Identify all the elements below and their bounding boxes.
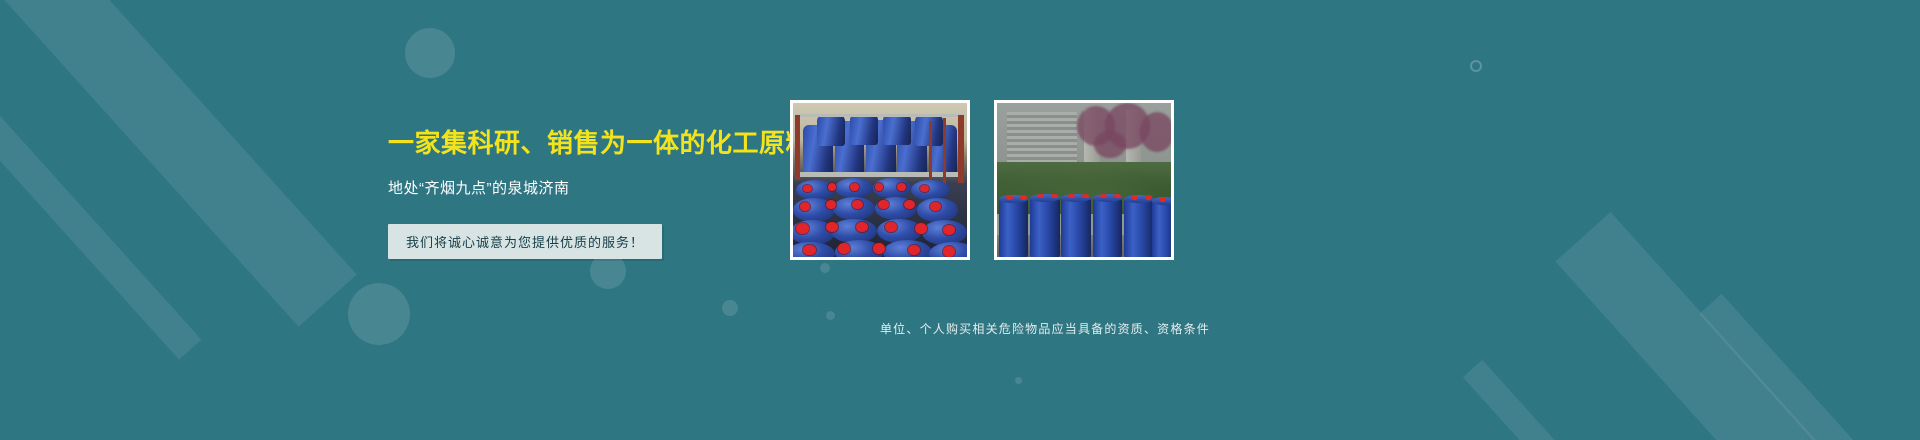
circle-decoration bbox=[826, 311, 835, 320]
banner-headline: 一家集科研、销售为一体的化工原料公司 bbox=[388, 128, 808, 159]
photo-card-blue-chemical-drums-in-red-steel-cage[interactable] bbox=[790, 100, 970, 260]
circle-decoration bbox=[722, 300, 738, 316]
drum-cage-photo-icon bbox=[793, 103, 967, 257]
hero-banner: 一家集科研、销售为一体的化工原料公司 地处“齐烟九点”的泉城济南 我们将诚心诚意… bbox=[0, 0, 1920, 440]
service-promise-button[interactable]: 我们将诚心诚意为您提供优质的服务！ bbox=[388, 224, 662, 259]
circle-decoration bbox=[1015, 377, 1022, 384]
photo-gallery bbox=[790, 100, 1174, 260]
circle-decoration bbox=[405, 28, 455, 78]
photo-card-blue-barrels-outdoors-by-shrubs[interactable] bbox=[994, 100, 1174, 260]
circle-ring-decoration bbox=[1470, 60, 1482, 72]
circle-decoration bbox=[348, 283, 410, 345]
diagonal-stripe-decoration bbox=[1556, 212, 1920, 440]
banner-subline: 地处“齐烟九点”的泉城济南 bbox=[388, 177, 808, 198]
diagonal-stripe-decoration bbox=[1463, 360, 1683, 440]
diagonal-stripe-decoration bbox=[0, 0, 201, 360]
circle-decoration bbox=[820, 263, 830, 273]
diagonal-stripe-decoration bbox=[1699, 294, 1920, 440]
banner-copy: 一家集科研、销售为一体的化工原料公司 地处“齐烟九点”的泉城济南 我们将诚心诚意… bbox=[388, 128, 808, 259]
outdoor-barrels-photo-icon bbox=[997, 103, 1171, 257]
diagonal-stripe-decoration bbox=[0, 0, 357, 327]
compliance-caption: 单位、个人购买相关危险物品应当具备的资质、资格条件 bbox=[835, 320, 1255, 337]
